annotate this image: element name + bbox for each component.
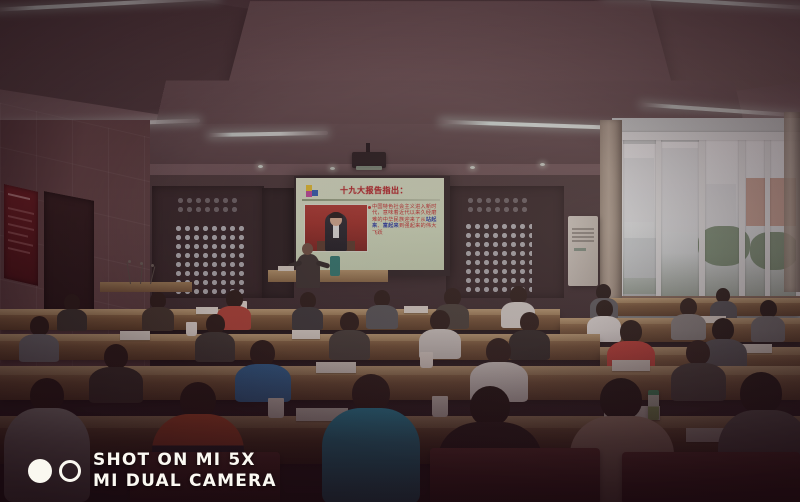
speaker-shirt [333, 225, 339, 238]
slide-logo-blue [312, 190, 318, 196]
notice-text-line [8, 223, 34, 231]
ac-vent [572, 240, 594, 242]
ceiling-pot-light [540, 163, 545, 166]
window-curtain[interactable] [600, 120, 622, 300]
notice-text-line [8, 247, 30, 254]
slide-highlight-2: 富起来 [383, 223, 399, 229]
slide-body-text: 中国特色社会主义进入新时代，意味着近代以来久经磨难的中华民族迎来了从站起来、富起… [372, 204, 438, 236]
student-head [620, 320, 642, 343]
student-head [206, 314, 225, 334]
slide-photo [304, 204, 368, 252]
microphone-head [151, 264, 154, 267]
bench-seat-back [430, 448, 600, 502]
window-mullion [699, 136, 705, 298]
student-head [30, 378, 64, 412]
podium-desk [268, 270, 388, 282]
notice-text-line [8, 231, 28, 238]
student-head [340, 312, 359, 332]
acoustic-perforations [176, 196, 240, 216]
desk-paper [292, 330, 320, 339]
lecturer-body [296, 254, 320, 288]
student-torso [142, 307, 174, 331]
student-torso [195, 332, 235, 362]
window-mullion [765, 134, 770, 300]
air-conditioner[interactable] [568, 216, 598, 286]
student-head [104, 344, 128, 369]
bench-seat-back [130, 452, 280, 502]
lecturer-head [302, 243, 313, 255]
slide-divider [302, 199, 440, 201]
ceiling-coffer-upper [229, 1, 671, 81]
student-head [352, 374, 390, 412]
outside-building [624, 158, 654, 222]
student-torso [751, 316, 785, 342]
student-torso [4, 408, 90, 502]
projector-lens [356, 166, 382, 170]
thermos-bottle [330, 256, 340, 276]
microphone-head [140, 262, 143, 265]
student-torso-cyan [322, 408, 420, 502]
ac-vent [572, 228, 594, 230]
student-torso [329, 330, 370, 360]
ceiling-pot-light [470, 166, 475, 169]
student-head [30, 316, 49, 336]
front-table [100, 282, 192, 292]
desk-paper [612, 360, 650, 371]
student-head [430, 310, 450, 331]
student-head [486, 338, 511, 364]
slide-bullet-icon [368, 206, 371, 209]
ac-vent [572, 232, 594, 234]
ac-display-panel [574, 248, 586, 251]
desk-paper [120, 331, 150, 340]
desk-paper [316, 362, 356, 373]
window-mullion [656, 138, 661, 298]
slide-title: 十九大报告指出： [340, 186, 440, 195]
ceiling-pot-light [330, 167, 335, 170]
paper-cup [432, 396, 448, 417]
student-torso [292, 307, 323, 330]
outside-building [624, 238, 658, 278]
notice-heading-line [8, 193, 30, 200]
student-head [600, 378, 642, 420]
student-head [686, 340, 710, 365]
presentation-slide: 十九大报告指出： 中国特色社会主义进入新时代，意味着近代以来久经磨难的中华民族迎… [296, 178, 444, 270]
student-head [250, 340, 275, 366]
acoustic-perforations [466, 196, 528, 214]
microphone-head [128, 260, 131, 263]
desk-paper [404, 306, 428, 313]
notice-text-line [8, 207, 34, 215]
student-torso [19, 334, 59, 362]
window-mullion [739, 134, 745, 298]
paper-cup [268, 398, 284, 418]
student-torso-striped-blue [235, 364, 291, 402]
red-notice-board [4, 184, 38, 286]
student-torso [89, 367, 143, 403]
water-bottle [648, 390, 659, 420]
window-wall [612, 118, 800, 328]
student-torso [57, 309, 87, 331]
notice-text-line [8, 215, 32, 223]
student-head [180, 382, 216, 418]
student-torso [671, 363, 726, 401]
notice-text-line [8, 239, 33, 247]
ceiling-pot-light [258, 165, 263, 168]
desk-paper [196, 307, 218, 314]
student-head [712, 318, 734, 341]
lecture-hall-photo: 十九大报告指出： 中国特色社会主义进入新时代，意味着近代以来久经磨难的中华民族迎… [0, 0, 800, 502]
slide-logo-magenta [306, 191, 312, 197]
student-torso [509, 330, 550, 360]
window-header [616, 132, 800, 140]
bench-seat-back [622, 452, 800, 502]
speaker-hair [329, 212, 343, 218]
acoustic-perforations [464, 222, 532, 294]
outside-building [662, 148, 698, 232]
podium-paper [278, 266, 294, 271]
student-head [740, 372, 782, 414]
student-head [520, 312, 539, 332]
student-head [470, 386, 510, 426]
student-torso [366, 305, 398, 329]
window-curtain[interactable] [784, 112, 800, 292]
paper-cup [420, 352, 433, 368]
paper-cup [186, 322, 197, 336]
ac-vent [572, 236, 594, 238]
student-torso [671, 314, 706, 340]
